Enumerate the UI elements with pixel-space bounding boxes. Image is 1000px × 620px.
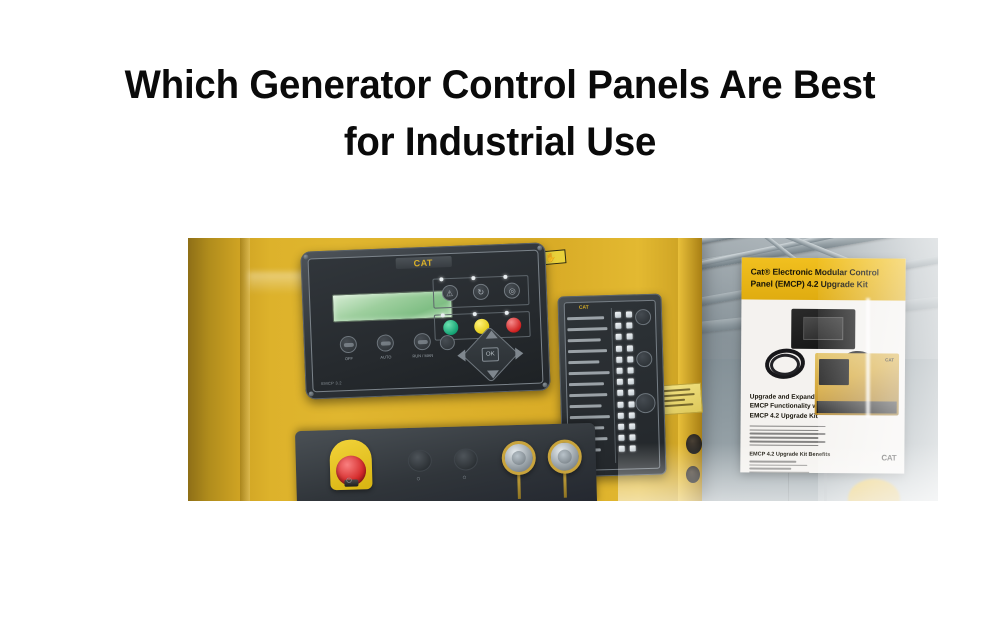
lamp-test-button[interactable] [635,393,656,414]
annunciator-led [617,379,623,385]
status-led [439,277,443,281]
button-icon: ○ [462,474,466,481]
navigation-pad[interactable]: OK [454,327,526,382]
alarm-indicator-group: ⚠ ↻ ◎ [432,275,529,309]
connector-stem [517,473,521,499]
status-led [473,312,477,316]
hazard-glyph-icon: ✋ [545,253,557,263]
lamp-test-icon[interactable]: ◎ [504,282,521,299]
connector-gauge-2 [547,439,582,474]
button-icon: ○ [416,476,420,483]
panel-button-1[interactable] [408,449,433,472]
annunciator-led [617,368,623,374]
annunciator-led [616,334,622,340]
module-screw [309,391,314,396]
page-title: Which Generator Control Panels Are Best … [20,57,980,171]
annunciator-led [618,424,624,430]
module-screw [537,245,542,250]
light-glare [866,298,870,418]
annunciator-led [628,367,634,373]
cat-logo: CAT [579,305,589,311]
reset-glyph-icon: ↻ [477,287,484,296]
module-screw [542,382,547,387]
mode-key-off[interactable]: OFF [340,336,358,354]
arrow-right-icon[interactable] [515,347,523,359]
warning-alarm-icon[interactable]: ⚠ [441,285,458,302]
page-title-line-1: Which Generator Control Panels Are Best [125,63,876,107]
status-led [441,313,445,317]
panel-button-2[interactable] [453,448,478,471]
annunciator-led [629,412,635,418]
acknowledge-button[interactable] [635,309,651,325]
annunciator-led [617,390,623,396]
floor-shadow [618,443,938,501]
lamp-test-glyph-icon: ◎ [509,286,516,295]
power-icon: ⏻ [346,478,352,486]
arrow-down-icon[interactable] [487,370,499,378]
emcp-faceplate: CAT OFF AUTO RUN / MAN [308,250,544,393]
arrow-left-icon[interactable] [457,349,465,361]
annunciator-led [616,345,622,351]
status-led [505,311,509,315]
annunciator-led [629,423,635,429]
annunciator-led [626,311,632,317]
annunciator-led [627,356,633,362]
hero-image: ⚡ ✋ CAT [188,238,938,501]
status-led [471,276,475,280]
lower-control-strip: ⏻ ○ ○ [295,423,597,501]
annunciator-led [628,401,634,407]
annunciator-led [617,401,623,407]
emcp-control-module[interactable]: CAT OFF AUTO RUN / MAN [300,242,551,399]
annunciator-led [628,390,634,396]
escape-button[interactable] [440,335,456,351]
annunciator-led [615,312,621,318]
status-led [503,275,507,279]
annunciator-led [628,379,634,385]
mode-key-group: OFF AUTO RUN / MAN [340,333,432,353]
mode-key-auto[interactable]: AUTO [376,334,394,352]
annunciator-led [615,323,621,329]
mode-key-label: OFF [345,356,353,361]
arrow-up-icon[interactable] [485,330,497,338]
mode-key-run-manual[interactable]: RUN / MAN [413,333,431,351]
annunciator-led [626,323,632,329]
silence-button[interactable] [636,351,652,367]
annunciator-led [629,434,635,440]
annunciator-led [618,412,624,418]
warning-glyph-icon: ⚠ [446,288,454,297]
annunciator-led [627,334,633,340]
mode-key-label: AUTO [380,354,391,359]
ok-button[interactable]: OK [482,347,500,362]
mode-key-label: RUN / MAN [412,353,433,359]
annunciator-led [616,356,622,362]
annunciator-button-group [633,309,656,414]
annunciator-led [627,345,633,351]
connector-stem [563,472,567,498]
module-model-text: EMCP 3.2 [321,380,342,386]
reset-alarm-icon[interactable]: ↻ [473,284,490,301]
page-title-line-2: for Industrial Use [344,120,656,164]
cat-logo: CAT [413,258,433,269]
info-sticker [659,383,703,416]
annunciator-led [618,435,624,441]
connector-gauge-1 [501,440,536,475]
